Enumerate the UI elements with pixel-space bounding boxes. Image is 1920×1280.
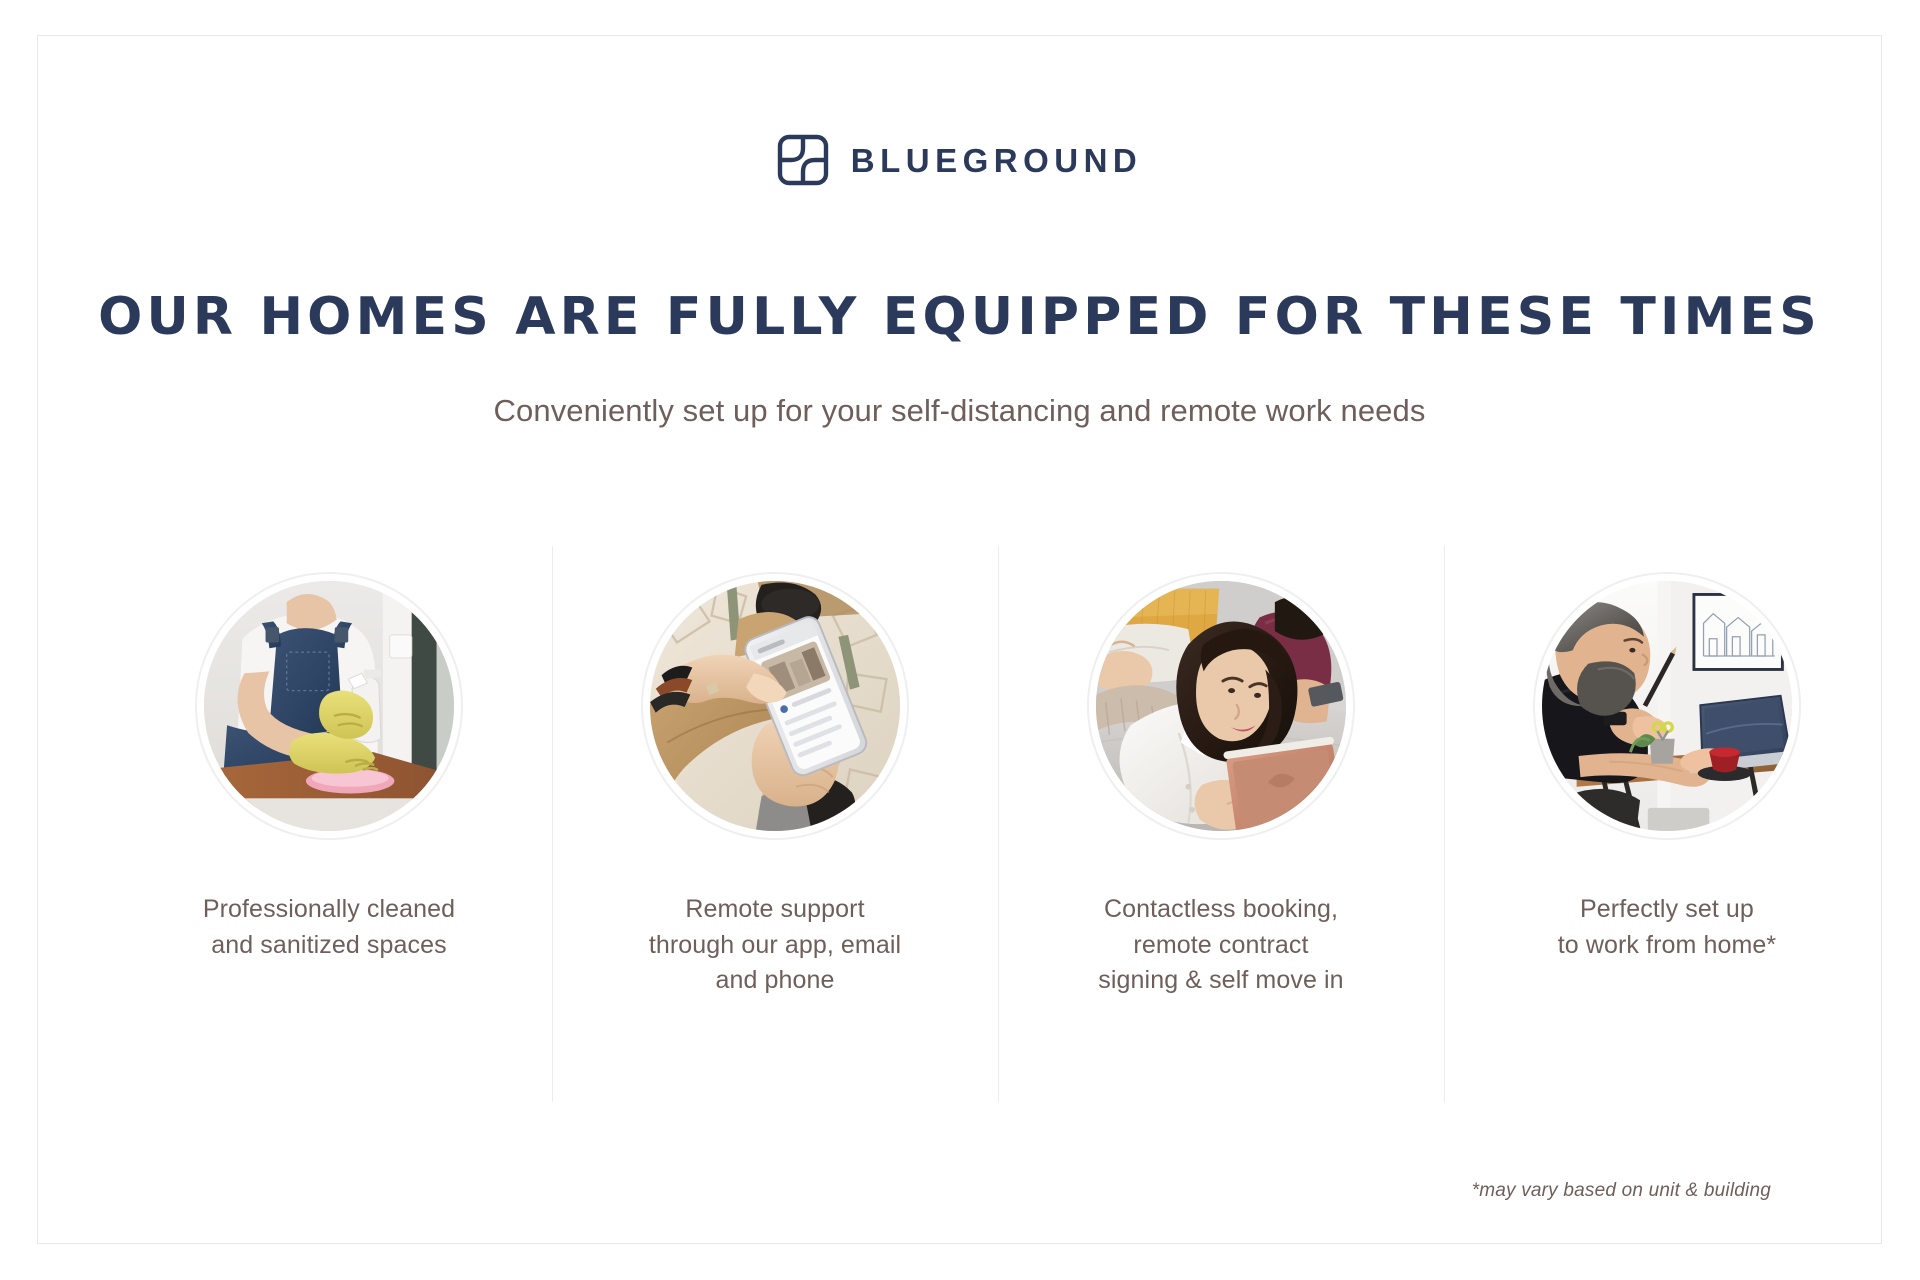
feature-image-work-from-home	[1542, 581, 1792, 831]
feature-image-cleaning	[204, 581, 454, 831]
feature-item-work-from-home: Perfectly set up to work from home*	[1444, 544, 1890, 1104]
feature-image-contactless-booking	[1096, 581, 1346, 831]
promo-poster: BLUEGROUND Our homes are fully equipped …	[0, 0, 1920, 1280]
page-subtitle: Conveniently set up for your self-distan…	[38, 391, 1881, 431]
feature-image-ring-cleaning	[195, 572, 463, 840]
feature-item-cleaning: Professionally cleaned and sanitized spa…	[106, 544, 552, 1104]
feature-item-contactless-booking: Contactless booking, remote contract sig…	[998, 544, 1444, 1104]
feature-caption: Perfectly set up to work from home*	[1558, 892, 1777, 963]
brand-wordmark: BLUEGROUND	[851, 144, 1143, 177]
feature-caption: Contactless booking, remote contract sig…	[1098, 892, 1343, 999]
feature-image-ring-work-from-home	[1533, 572, 1801, 840]
feature-image-ring-remote-support	[641, 572, 909, 840]
feature-caption: Professionally cleaned and sanitized spa…	[203, 892, 455, 963]
brand-lockup: BLUEGROUND	[38, 134, 1881, 186]
page-title: Our homes are fully equipped for these t…	[38, 288, 1881, 346]
feature-image-ring-contactless-booking	[1087, 572, 1355, 840]
blueground-square-logo-icon	[777, 134, 829, 186]
feature-list: Professionally cleaned and sanitized spa…	[106, 544, 1890, 1104]
poster-frame: BLUEGROUND Our homes are fully equipped …	[37, 35, 1882, 1244]
feature-item-remote-support: Remote support through our app, email an…	[552, 544, 998, 1104]
footnote-disclaimer: *may vary based on unit & building	[1472, 1180, 1771, 1202]
feature-image-remote-support	[650, 581, 900, 831]
feature-caption: Remote support through our app, email an…	[649, 892, 901, 999]
